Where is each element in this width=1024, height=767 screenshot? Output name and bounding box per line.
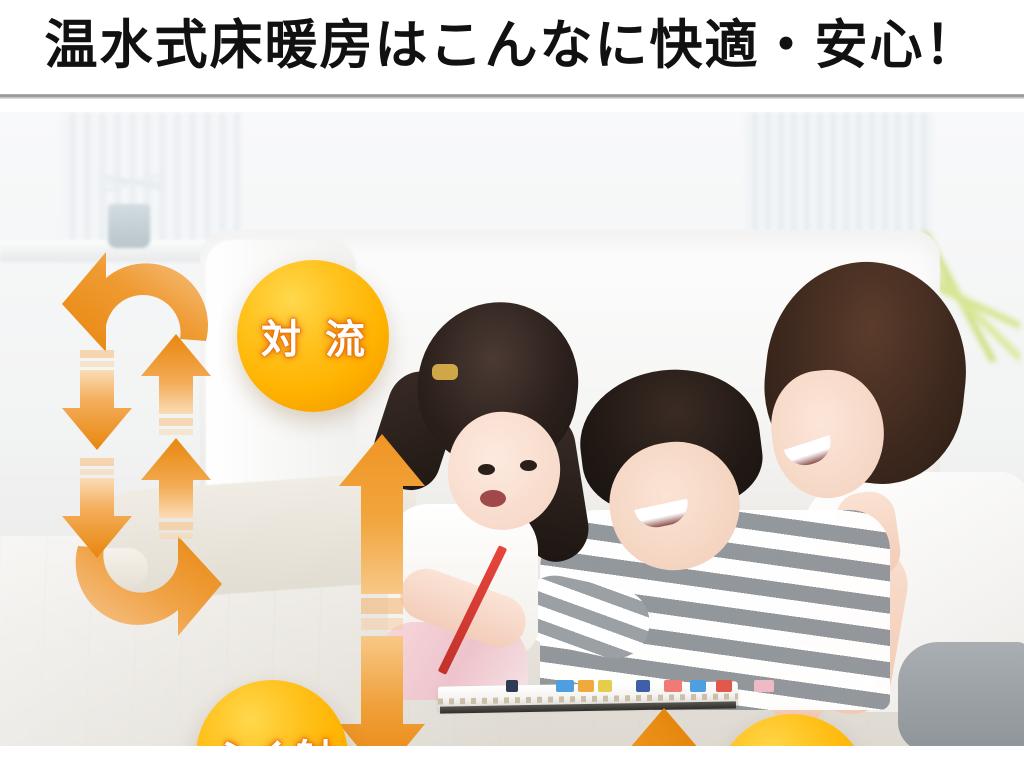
convection-loop-arrows [60,242,250,642]
label-bubble-radiation-text: ふく射 [210,727,334,746]
label-bubble-convection[interactable]: 対 流 [237,260,389,412]
diffuser-sticks [105,152,163,212]
girl-hair-tie [432,364,458,380]
header-bar: 温水式床暖房はこんなに快適・安心！ [0,0,1024,94]
down-arrow-1 [62,350,132,450]
illustration-stage: 対 流 ふく射 伝 導 [0,112,1024,746]
up-arrow-1 [141,334,211,435]
conduction-arrow [612,706,717,746]
radiation-arrow [335,430,430,746]
pencil-chip [716,680,732,692]
pencil-chip [636,680,650,692]
loop-top-arc-arrow [62,252,208,352]
girl-mouth [480,490,506,507]
radiation-up-head [339,434,425,594]
pencil-chip [578,680,594,692]
pencil-chip [754,680,774,692]
pencil-chip [556,680,574,692]
pencil-chip [690,680,706,692]
radiation-fade-1 [361,598,403,614]
up-arrow-2 [141,438,211,539]
pencil-chip [664,680,682,692]
pencil-chip [506,680,518,692]
girl-eye-right [520,460,537,471]
radiation-fade-2 [361,618,403,630]
girl-eye-left [478,464,495,475]
label-bubble-convection-text: 対 流 [256,307,370,365]
page-title: 温水式床暖房はこんなに快適・安心！ [45,19,980,72]
page-root: 温水式床暖房はこんなに快適・安心！ [0,0,1024,767]
down-arrow-2 [62,458,132,558]
conduction-head [616,708,712,746]
pencil-chip [598,680,612,692]
mother-leg [898,642,1024,746]
header-divider [0,94,1024,99]
radiation-down-head [339,636,425,746]
